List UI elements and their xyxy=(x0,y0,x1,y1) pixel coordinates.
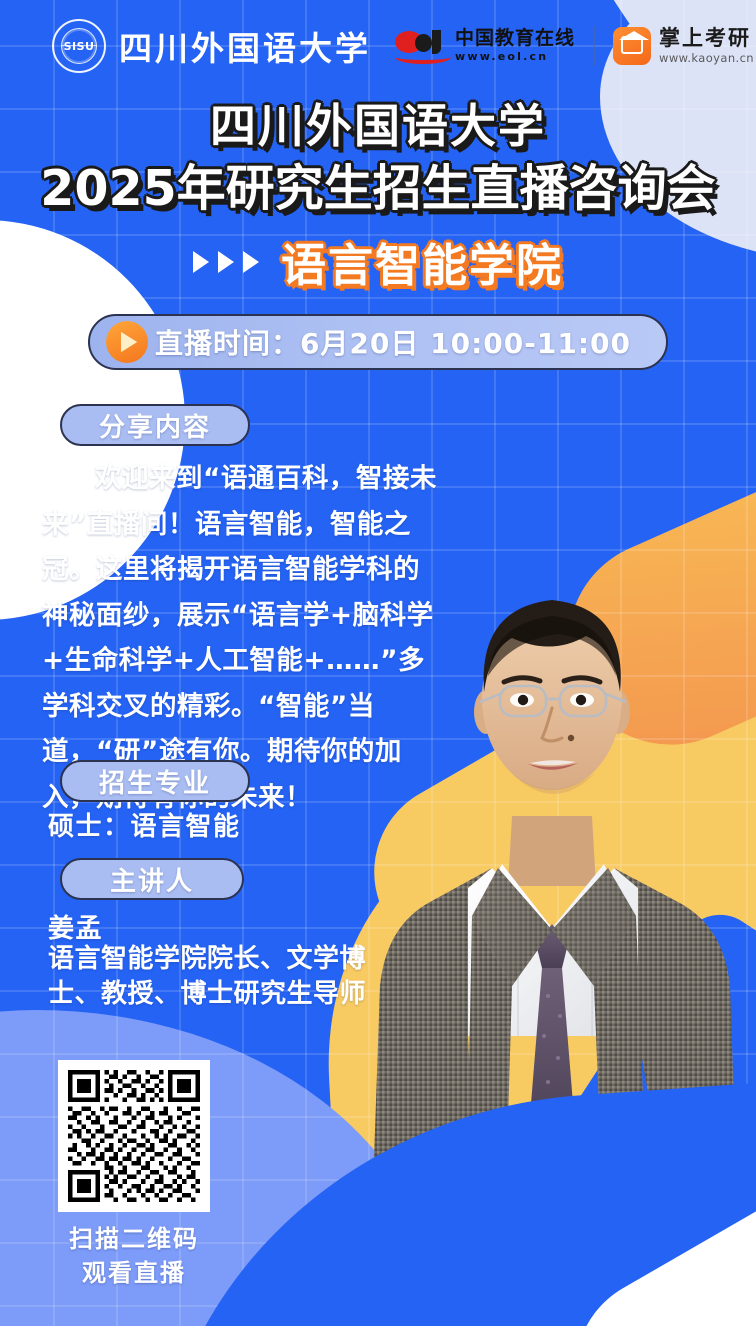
speaker-name-text: 姜孟 xyxy=(48,908,103,945)
qr-caption-line-1: 扫描二维码 xyxy=(36,1222,232,1256)
qr-code-icon[interactable] xyxy=(58,1060,210,1212)
section-label-share: 分享内容 xyxy=(60,404,250,446)
qr-code-svg xyxy=(68,1070,200,1202)
speaker-title-text: 语言智能学院院长、文学博士、教授、博士研究生导师 xyxy=(48,942,378,1012)
section-label-speaker: 主讲人 xyxy=(60,858,244,900)
qr-caption-line-2: 观看直播 xyxy=(36,1256,232,1290)
major-value-text: 硕士：语言智能 xyxy=(48,806,241,843)
poster: SISU 四川外国语大学 中国教育在线 www.eol.cn 掌上考研 www.… xyxy=(0,0,756,1326)
qr-caption: 扫描二维码 观看直播 xyxy=(36,1222,232,1290)
section-label-major: 招生专业 xyxy=(60,760,250,802)
